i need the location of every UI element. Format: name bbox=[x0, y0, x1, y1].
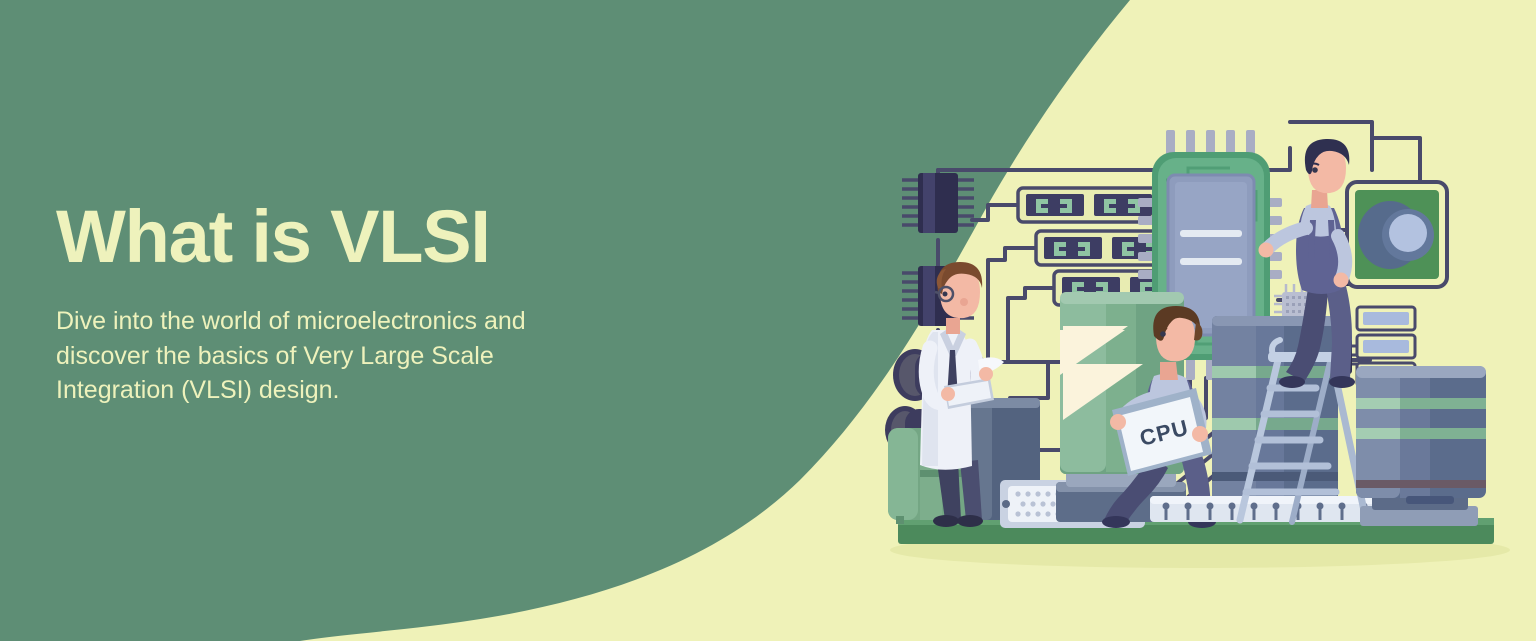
vlsi-illustration: CPU bbox=[860, 30, 1536, 610]
page-title: What is VLSI bbox=[56, 200, 676, 274]
hero-text-block: What is VLSI Dive into the world of micr… bbox=[56, 200, 676, 408]
vlsi-hero-banner: What is VLSI Dive into the world of micr… bbox=[0, 0, 1536, 641]
camera-module bbox=[1347, 182, 1447, 287]
server-foot-rail bbox=[1150, 496, 1390, 522]
server-tower-far-right bbox=[1356, 366, 1486, 526]
ic-chip-top-left bbox=[902, 173, 974, 233]
page-subtitle: Dive into the world of microelectronics … bbox=[56, 304, 616, 408]
camera-lens-glass bbox=[1389, 214, 1427, 252]
